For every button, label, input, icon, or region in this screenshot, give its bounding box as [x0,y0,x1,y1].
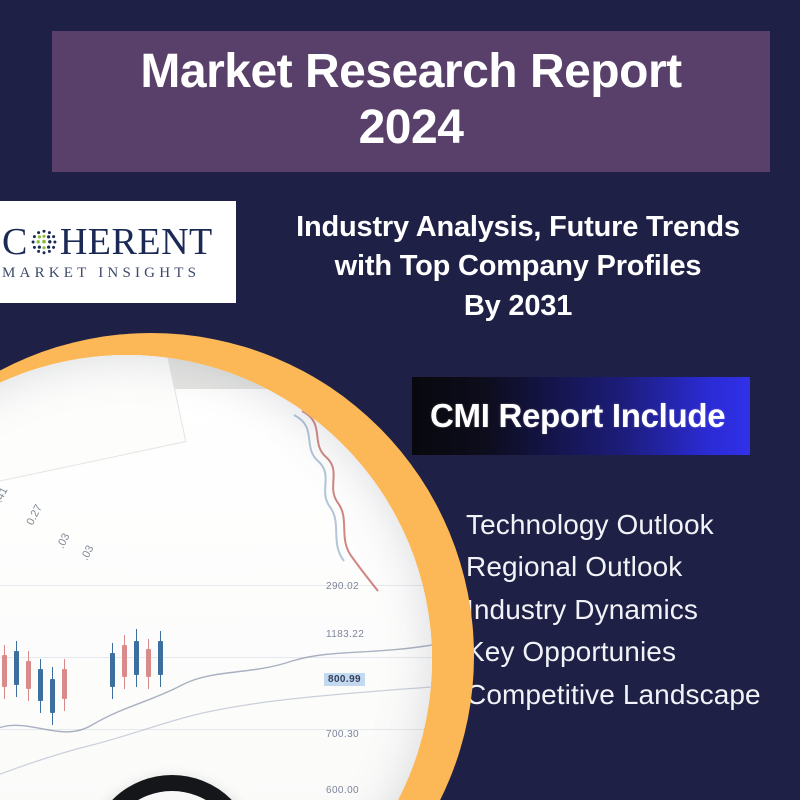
cmi-report-include-badge: CMI Report Include [412,377,750,455]
logo-wordmark-suffix: HERENT [60,223,213,261]
subtitle-line-2: with Top Company Profiles [238,247,798,286]
list-item: Regional Outlook [432,547,792,586]
photo-scene: Stop Loss Take Profit 0.01 .41 0.27 .03 … [0,355,432,800]
globe-o-icon [29,227,59,257]
financial-chart-photo: Stop Loss Take Profit 0.01 .41 0.27 .03 … [0,333,474,800]
coherent-market-insights-logo: C [0,201,236,303]
badge-label: CMI Report Include [430,397,725,435]
photo-inner-crop: Stop Loss Take Profit 0.01 .41 0.27 .03 … [0,355,432,800]
list-item: Key Opportunies [432,632,792,671]
list-item: Industry Dynamics [432,590,792,629]
logo-tagline: MARKET INSIGHTS [2,265,236,282]
subtitle-block: Industry Analysis, Future Trends with To… [238,208,798,326]
market-research-poster: Market Research Report 2024 C [0,0,800,800]
report-contents-list: Technology Outlook Regional Outlook Indu… [432,505,792,717]
subtitle-line-1: Industry Analysis, Future Trends [238,208,798,247]
subtitle-line-3: By 2031 [238,287,798,326]
logo-wordmark-prefix: C [2,223,28,261]
list-item: Competitive Landscape [432,675,792,714]
title-banner: Market Research Report 2024 [52,31,770,172]
logo-inner: C [2,222,236,282]
trend-squiggle-lines [292,405,432,595]
logo-wordmark: C [2,222,236,262]
candlestick-series [0,615,432,800]
poster-title-line-1: Market Research Report [140,44,681,100]
poster-title-line-2: 2024 [359,100,464,156]
list-item: Technology Outlook [432,505,792,544]
